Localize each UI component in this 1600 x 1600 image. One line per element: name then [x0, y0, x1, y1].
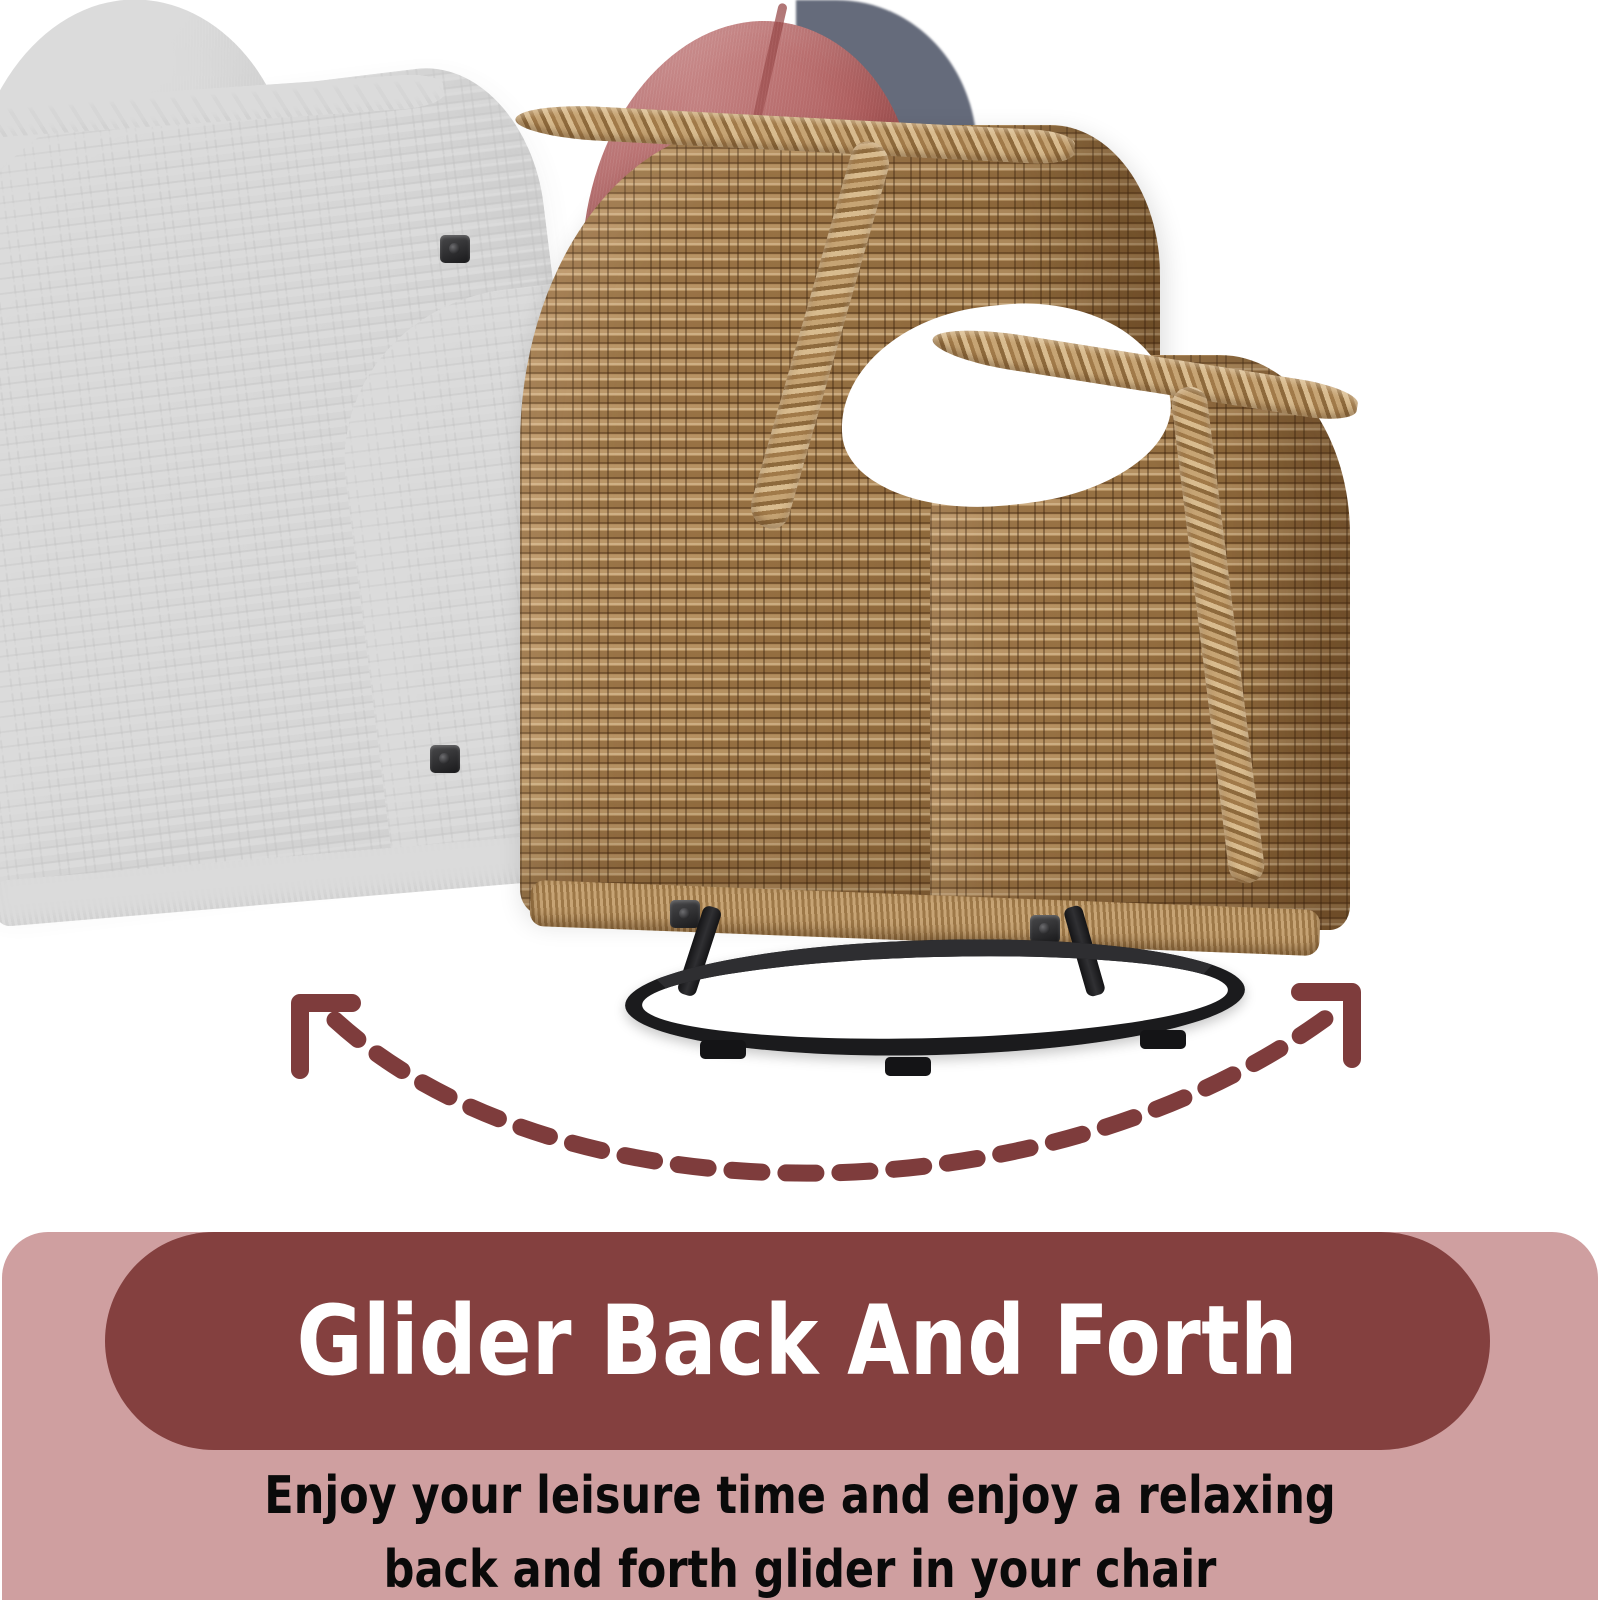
product-photo — [0, 0, 1600, 1240]
frame-bolt — [430, 745, 460, 773]
product-feature-image: Glider Back And Forth Enjoy your leisure… — [0, 0, 1600, 1600]
frame-bolt — [440, 235, 470, 263]
caption-panel: Glider Back And Forth Enjoy your leisure… — [2, 1232, 1598, 1600]
dashed-arc-path — [335, 1015, 1330, 1173]
title-pill: Glider Back And Forth — [105, 1232, 1490, 1450]
subtitle-line-1: Enjoy your leisure time and enjoy a rela… — [176, 1460, 1424, 1534]
feature-title: Glider Back And Forth — [297, 1293, 1298, 1389]
glide-motion-arc — [0, 960, 1600, 1220]
frame-bolt — [1030, 915, 1060, 943]
frame-bolt — [670, 900, 700, 928]
subtitle-line-2: back and forth glider in your chair — [176, 1534, 1424, 1600]
feature-subtitle: Enjoy your leisure time and enjoy a rela… — [66, 1460, 1534, 1600]
main-chair — [370, 55, 1330, 1055]
